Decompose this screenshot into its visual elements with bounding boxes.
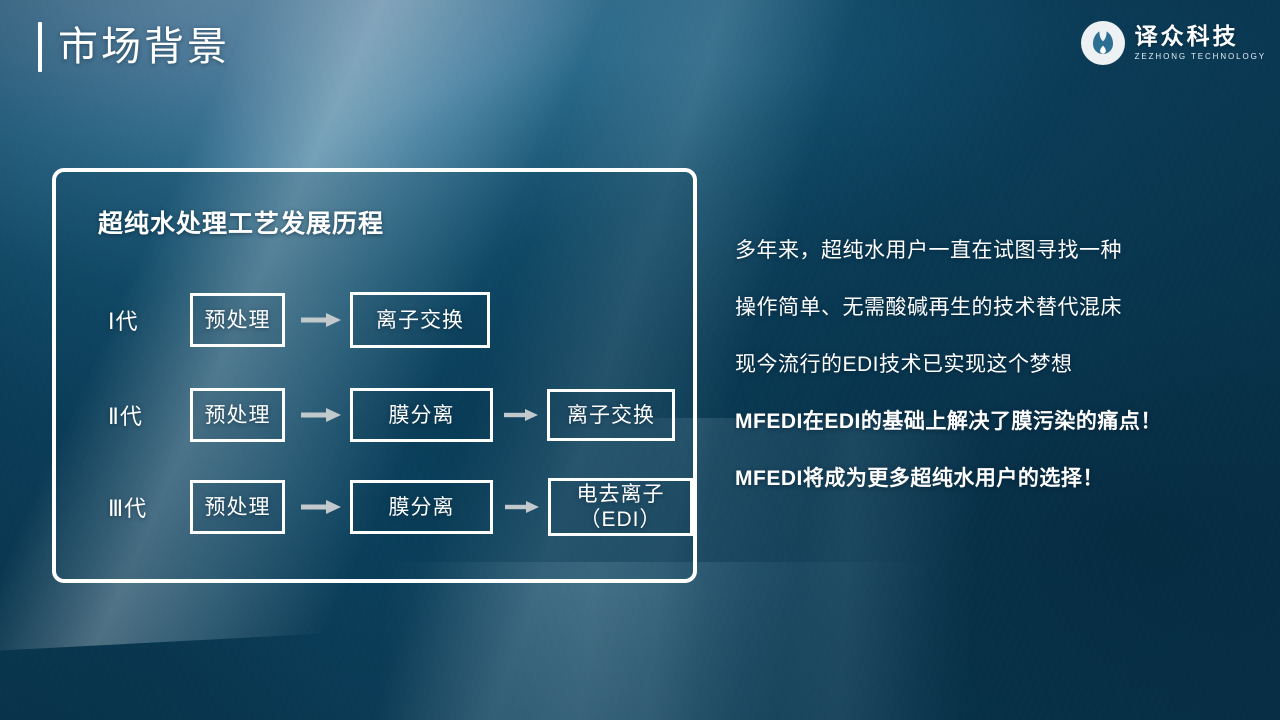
title-accent-bar bbox=[38, 22, 42, 72]
arrow-icon-2b bbox=[504, 408, 538, 422]
node-edi-3: 电去离子 （EDI） bbox=[548, 478, 693, 536]
arrow-icon-1a bbox=[301, 312, 341, 328]
brand-logo: 译众科技 ZEZHONG TECHNOLOGY bbox=[1080, 18, 1266, 68]
copy-line-2: 操作简单、无需酸碱再生的技术替代混床 bbox=[735, 279, 1255, 336]
node-pretreatment-1: 预处理 bbox=[190, 293, 285, 347]
node-pretreatment-3: 预处理 bbox=[190, 480, 285, 534]
copy-line-1: 多年来，超纯水用户一直在试图寻找一种 bbox=[735, 222, 1255, 279]
node-pretreatment-2: 预处理 bbox=[190, 388, 285, 442]
slide-header: 市场背景 译众科技 ZEZHONG TECHNOLOGY bbox=[0, 0, 1280, 96]
process-history-panel: 超纯水处理工艺发展历程 Ⅰ代 预处理 离子交换 Ⅱ代 预处理 bbox=[52, 168, 697, 583]
arrow-icon-2a bbox=[301, 407, 341, 423]
flow-row-gen3: Ⅲ代 预处理 膜分离 bbox=[56, 479, 693, 535]
flow-row-gen2: Ⅱ代 预处理 膜分离 bbox=[56, 387, 693, 443]
page-title: 市场背景 bbox=[58, 19, 230, 75]
brand-name-en: ZEZHONG TECHNOLOGY bbox=[1135, 51, 1266, 63]
brand-wordmark: 译众科技 ZEZHONG TECHNOLOGY bbox=[1135, 24, 1266, 63]
panel-title: 超纯水处理工艺发展历程 bbox=[98, 204, 384, 240]
generation-label-1: Ⅰ代 bbox=[108, 304, 190, 336]
brand-name-cn: 译众科技 bbox=[1135, 24, 1266, 49]
node-membrane-separation-3: 膜分离 bbox=[350, 480, 493, 534]
copy-line-5: MFEDI将成为更多超纯水用户的选择！ bbox=[735, 450, 1255, 507]
copy-line-3: 现今流行的EDI技术已实现这个梦想 bbox=[735, 336, 1255, 393]
arrow-icon-3b bbox=[505, 500, 539, 514]
narrative-text-block: 多年来，超纯水用户一直在试图寻找一种 操作简单、无需酸碱再生的技术替代混床 现今… bbox=[735, 222, 1255, 507]
flow-row-gen1: Ⅰ代 预处理 离子交换 bbox=[56, 292, 693, 348]
generation-label-3: Ⅲ代 bbox=[108, 491, 190, 523]
slide-root: 市场背景 译众科技 ZEZHONG TECHNOLOGY 超纯水处理工艺发展历程… bbox=[0, 0, 1280, 720]
node-membrane-separation-2: 膜分离 bbox=[350, 388, 493, 442]
copy-line-4: MFEDI在EDI的基础上解决了膜污染的痛点！ bbox=[735, 393, 1255, 450]
node-ion-exchange-2: 离子交换 bbox=[547, 389, 675, 441]
generation-label-2: Ⅱ代 bbox=[108, 399, 190, 431]
arrow-icon-3a bbox=[301, 499, 341, 515]
node-ion-exchange-1: 离子交换 bbox=[350, 292, 490, 348]
water-droplet-logo-icon bbox=[1080, 20, 1126, 66]
